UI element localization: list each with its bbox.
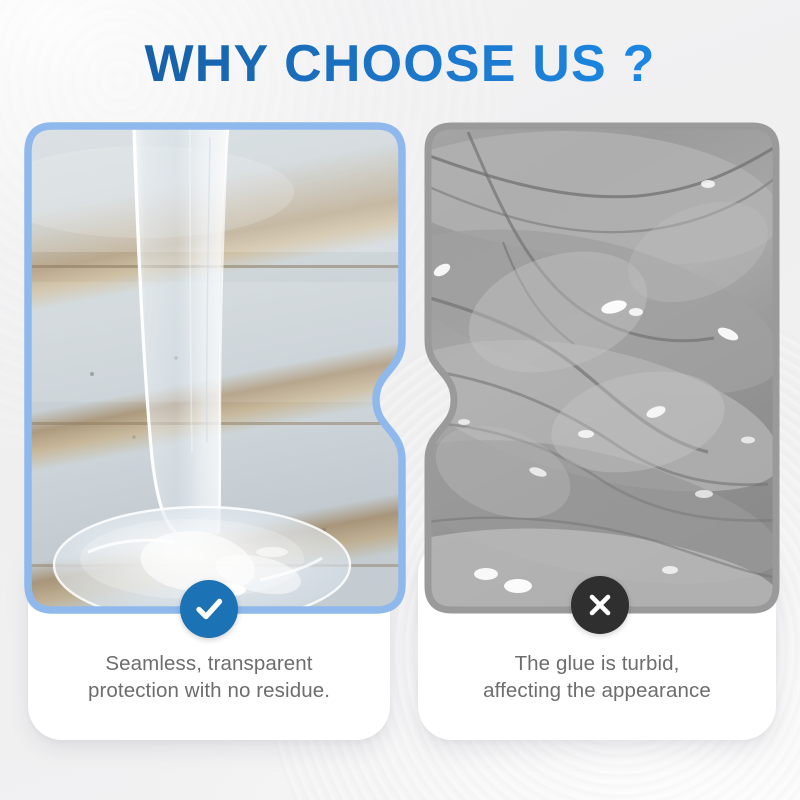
good-photo-content (0, 122, 408, 623)
page-title: WHY CHOOSE US ? (0, 34, 800, 94)
caption-good: Seamless, transparent protection with no… (32, 650, 386, 704)
comparison-card-bad[interactable] (408, 122, 780, 614)
bad-photo-content (398, 122, 783, 614)
comparison-card-good[interactable] (24, 122, 408, 614)
caption-bad: The glue is turbid, affecting the appear… (420, 650, 774, 704)
check-circle-icon (180, 580, 238, 638)
bad-photo-frame (408, 122, 780, 614)
why-choose-us-infographic: WHY CHOOSE US ? (0, 0, 800, 800)
good-photo-frame (24, 122, 408, 614)
cross-circle-icon (571, 576, 629, 634)
